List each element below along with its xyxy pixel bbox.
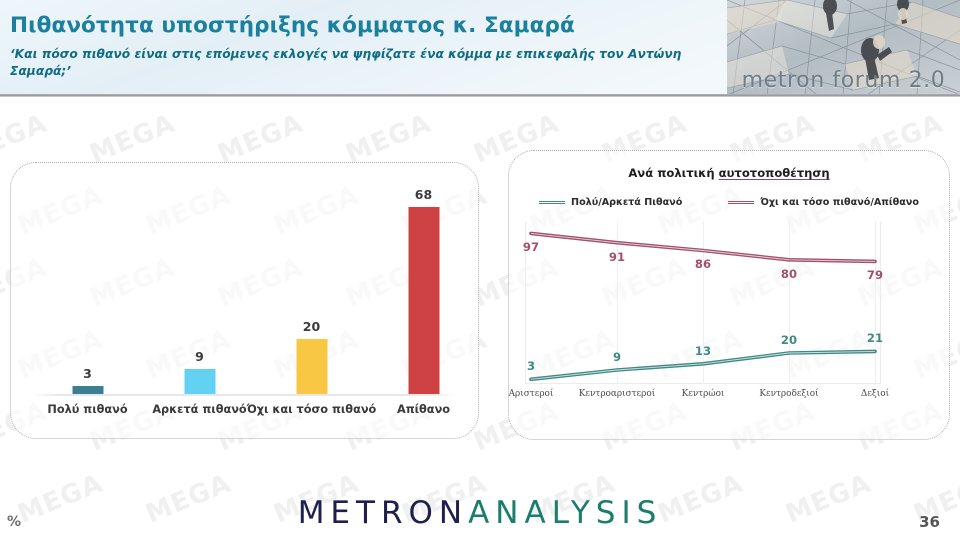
watermark-text: MEGA xyxy=(0,108,51,169)
x-axis-tick-label: Δεξιοί xyxy=(861,389,889,399)
watermark-text: MEGA xyxy=(342,108,436,169)
bar-value-label: 3 xyxy=(83,366,92,381)
bar-value-label: 68 xyxy=(415,187,432,202)
bar-category-label: Πολύ πιθανό xyxy=(47,403,127,416)
slide-header: Πιθανότητα υποστήριξης κόμματος κ. Σαμαρ… xyxy=(0,0,960,97)
legend-swatch-icon xyxy=(539,201,565,204)
data-point-label: 20 xyxy=(781,333,797,347)
metron-analysis-wordmark: METRONANALYSIS xyxy=(0,495,960,531)
bar-group: 9Αρκετά πιθανό xyxy=(141,179,258,394)
data-point-label: 9 xyxy=(613,350,621,364)
x-axis-tick-label: Κεντροαριστεροί xyxy=(579,389,655,399)
x-axis-tick-label: Κεντρώοι xyxy=(682,389,725,399)
x-axis-labels: ΑριστεροίΚεντροαριστεροίΚεντρώοιΚεντροδε… xyxy=(525,389,881,407)
bar xyxy=(184,369,215,394)
bar-group: 20Όχι και τόσο πιθανό xyxy=(253,179,370,394)
legend-item[interactable]: Όχι και τόσο πιθανό/Απίθανο xyxy=(728,197,919,208)
logo-wordmark: metron forum 2.0 xyxy=(727,68,960,93)
political-placement-chart-panel: Ανά πολιτική αυτοτοποθέτηση Πολύ/Αρκετά … xyxy=(508,150,950,440)
watermark-text: MEGA xyxy=(214,108,308,169)
x-axis-tick-label: Κεντροδεξιοί xyxy=(759,389,818,399)
line-chart-plot-area: 391320219791868079 xyxy=(525,221,881,384)
bar-group: 3Πολύ πιθανό xyxy=(29,179,146,394)
overall-bar-chart: 3Πολύ πιθανό9Αρκετά πιθανό20Όχι και τόσο… xyxy=(11,163,478,438)
slide: MEGAMEGAMEGAMEGAMEGAMEGAMEGAMEGAMEGAMEGA… xyxy=(0,0,960,543)
overall-bar-chart-panel: 3Πολύ πιθανό9Αρκετά πιθανό20Όχι και τόσο… xyxy=(10,162,479,439)
bar-value-label: 20 xyxy=(303,319,320,334)
metron-forum-logo: metron forum 2.0 xyxy=(727,0,960,95)
bar-value-label: 9 xyxy=(195,349,204,364)
legend-label: Όχι και τόσο πιθανό/Απίθανο xyxy=(760,197,919,208)
data-point-label: 79 xyxy=(867,268,883,282)
legend-label: Πολύ/Αρκετά Πιθανό xyxy=(571,197,682,208)
data-point-label: 13 xyxy=(695,344,711,358)
data-point-label: 3 xyxy=(527,359,535,373)
line-chart-title: Ανά πολιτική αυτοτοποθέτηση xyxy=(509,166,949,180)
bar xyxy=(296,339,327,394)
legend-swatch-icon xyxy=(728,201,754,204)
line-chart-legend: Πολύ/Αρκετά ΠιθανόΌχι και τόσο πιθανό/Απ… xyxy=(509,197,949,208)
bar xyxy=(72,386,103,394)
data-point-label: 86 xyxy=(695,257,711,271)
page-number: 36 xyxy=(919,513,940,531)
wordmark-metron: METRON xyxy=(298,495,468,531)
watermark-text: MEGA xyxy=(86,108,180,169)
bar-category-label: Αρκετά πιθανό xyxy=(152,403,246,416)
bar xyxy=(408,207,439,394)
bar-baseline xyxy=(33,394,456,396)
bar-category-label: Όχι και τόσο πιθανό xyxy=(247,403,377,416)
bar-group: 68Απίθανο xyxy=(365,179,482,394)
wordmark-analysis: ANALYSIS xyxy=(468,495,662,531)
page-subtitle: ‘Και πόσο πιθανό είναι στις επόμενες εκλ… xyxy=(10,46,690,81)
legend-item[interactable]: Πολύ/Αρκετά Πιθανό xyxy=(539,197,682,208)
page-title: Πιθανότητα υποστήριξης κόμματος κ. Σαμαρ… xyxy=(10,14,710,38)
data-point-label: 91 xyxy=(609,250,625,264)
percent-unit-label: % xyxy=(7,514,21,530)
data-point-label: 97 xyxy=(523,240,539,254)
x-axis-tick-label: Αριστεροί xyxy=(509,389,554,399)
data-point-label: 80 xyxy=(781,267,797,281)
line-chart-title-underlined: αυτοτοποθέτηση xyxy=(719,166,830,180)
bar-category-label: Απίθανο xyxy=(397,403,450,416)
data-point-label: 21 xyxy=(867,331,883,345)
line-series-svg xyxy=(525,221,881,384)
line-chart-title-plain: Ανά πολιτική xyxy=(628,166,718,180)
